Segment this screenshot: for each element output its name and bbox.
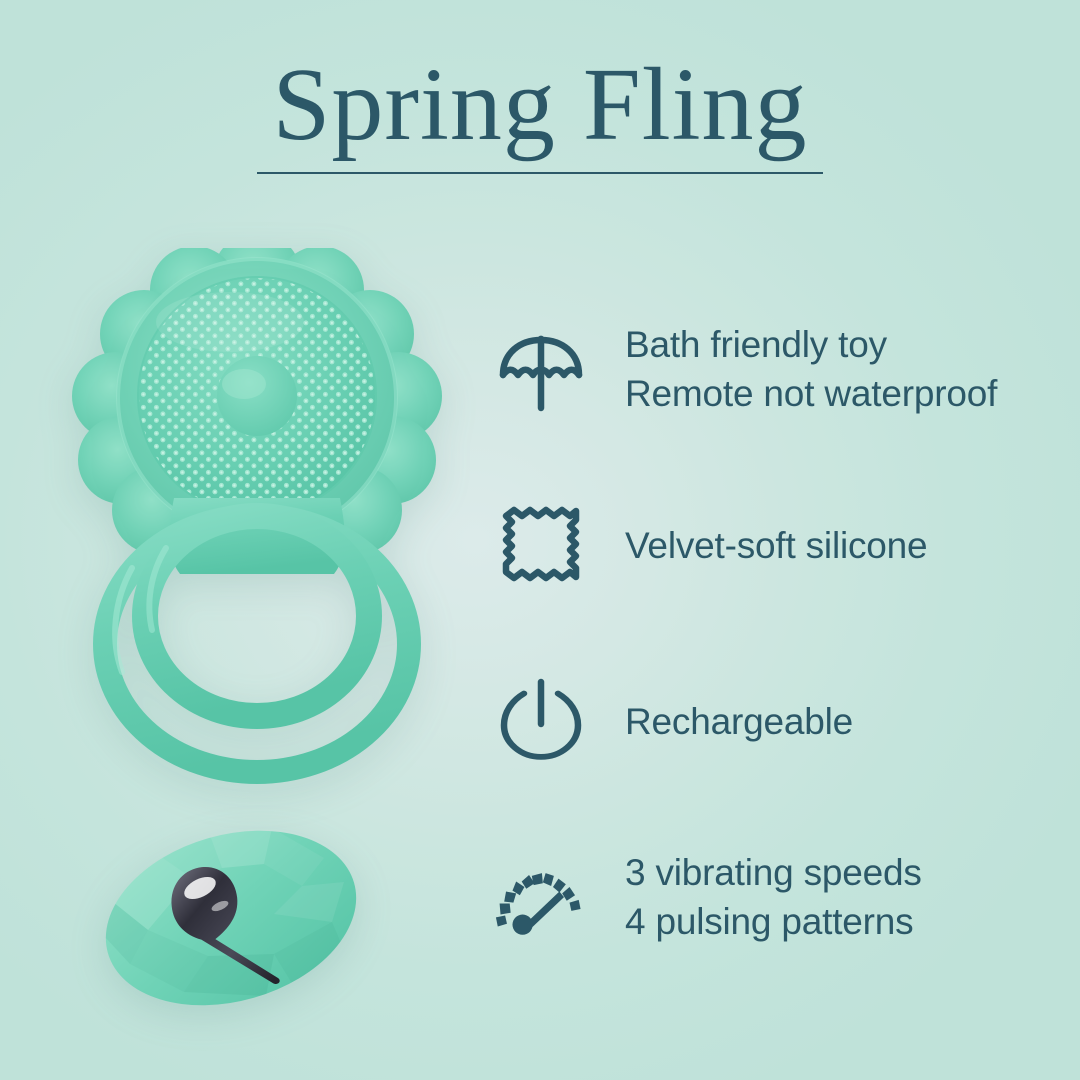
feature-row-velvet-silicone: Velvet-soft silicone xyxy=(495,458,1055,634)
feature-text-speeds-patterns: 3 vibrating speeds 4 pulsing patterns xyxy=(625,849,922,947)
remote-illustration xyxy=(96,806,366,1031)
page-title: Spring Fling xyxy=(0,52,1080,158)
speedometer-icon xyxy=(495,852,587,944)
feature-text-velvet-silicone: Velvet-soft silicone xyxy=(625,522,927,571)
title-underline-rule xyxy=(257,172,823,174)
product-infographic: Spring Fling xyxy=(0,0,1080,1080)
feature-row-rechargeable: Rechargeable xyxy=(495,634,1055,810)
feature-line: Bath friendly toy xyxy=(625,321,997,370)
title-block: Spring Fling xyxy=(0,52,1080,174)
feature-row-bath-friendly: Bath friendly toy Remote not waterproof xyxy=(495,282,1055,458)
feature-line: Velvet-soft silicone xyxy=(625,522,927,571)
power-icon xyxy=(495,676,587,768)
feature-list: Bath friendly toy Remote not waterproof … xyxy=(495,282,1055,986)
flower-ring-illustration xyxy=(62,248,452,793)
fabric-swatch-icon xyxy=(495,500,587,592)
product-image-remote xyxy=(96,806,366,1031)
feature-line: Rechargeable xyxy=(625,698,853,747)
feature-line: 4 pulsing patterns xyxy=(625,898,922,947)
feature-text-rechargeable: Rechargeable xyxy=(625,698,853,747)
feature-text-bath-friendly: Bath friendly toy Remote not waterproof xyxy=(625,321,997,419)
feature-line: Remote not waterproof xyxy=(625,370,997,419)
product-image-ring xyxy=(62,248,452,793)
feature-line: 3 vibrating speeds xyxy=(625,849,922,898)
feature-row-speeds-patterns: 3 vibrating speeds 4 pulsing patterns xyxy=(495,810,1055,986)
umbrella-icon xyxy=(495,324,587,416)
